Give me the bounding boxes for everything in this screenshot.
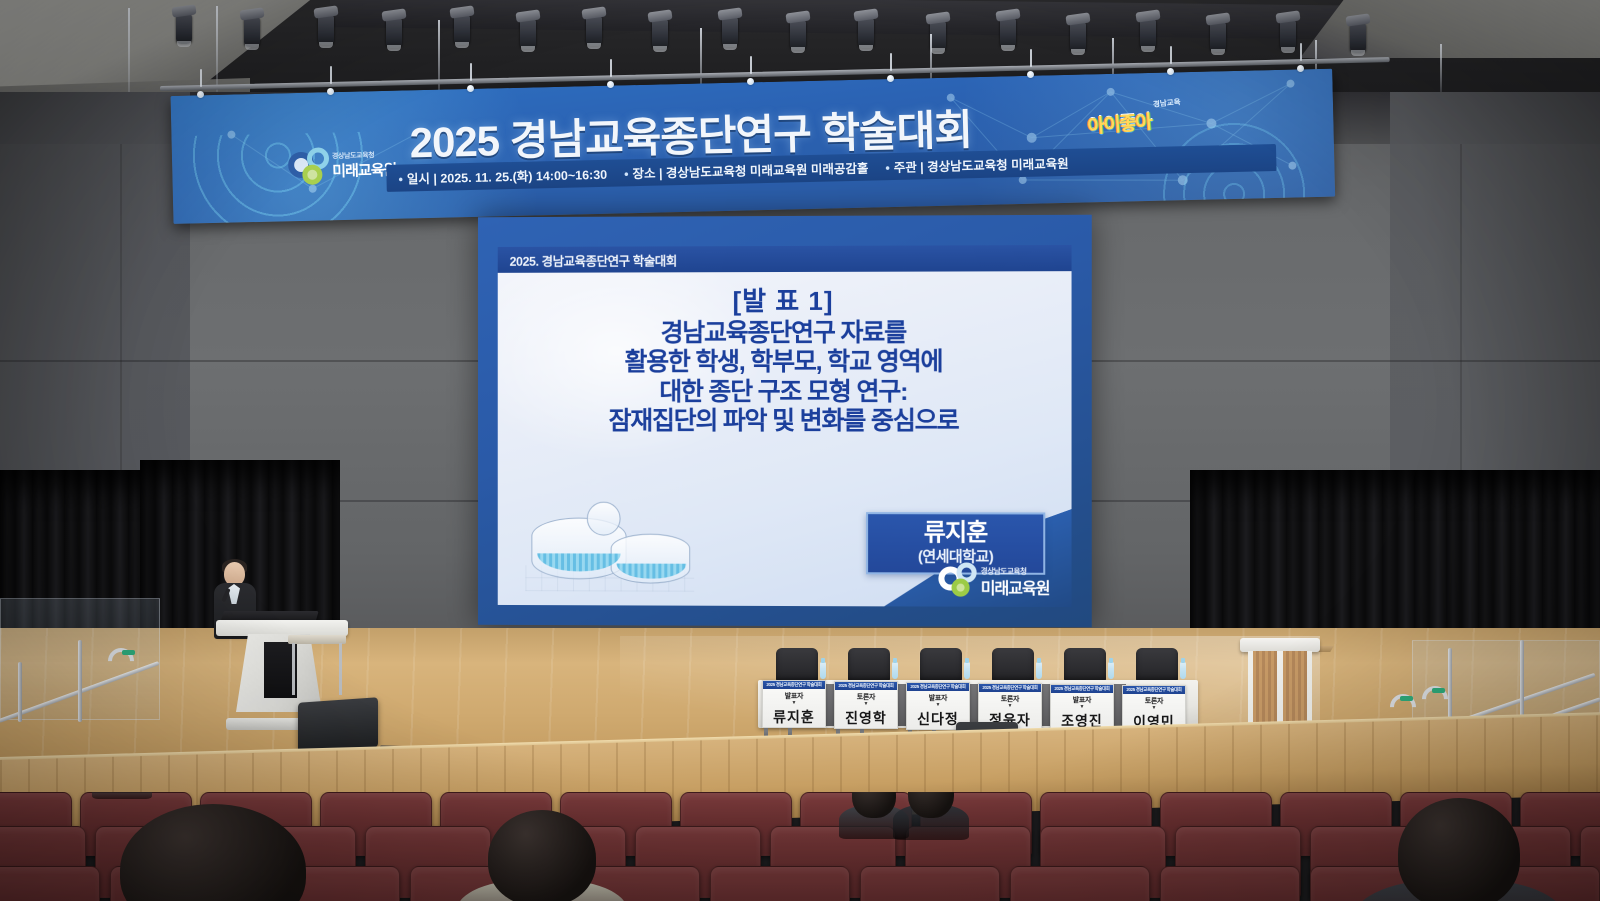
banner-hook xyxy=(890,53,892,71)
water-bottle xyxy=(892,662,898,679)
banner-hook xyxy=(610,59,612,77)
slide-logo-org-main: 미래교육원 xyxy=(981,575,1050,599)
banner-hook xyxy=(330,66,332,84)
stage-light xyxy=(586,16,602,46)
banner-info-venue: 장소 | 경상남도교육청 미래교육원 미래공감홀 xyxy=(624,158,869,183)
audience-seat[interactable] xyxy=(1010,866,1150,901)
water-bottle xyxy=(964,662,970,679)
placard-caret-icon: ▼ xyxy=(936,703,941,708)
slide-presentation-label: [발 표 1] xyxy=(498,285,1072,317)
banner-info-host: 주관 | 경상남도교육청 미래교육원 xyxy=(885,153,1069,176)
banner-hook xyxy=(1170,46,1172,64)
placard-caret-icon: ▼ xyxy=(1008,704,1013,709)
stage-light xyxy=(1350,23,1366,53)
stage-light xyxy=(318,15,334,45)
banner-eyelet xyxy=(197,91,204,98)
panel-chair xyxy=(776,648,818,682)
stage-light xyxy=(722,17,738,47)
placard-caret-icon: ▼ xyxy=(1152,706,1157,711)
audience-person-foreground-right xyxy=(1398,798,1520,901)
slide-content: [발 표 1] 경남교육종단연구 자료를 활용한 학생, 학부모, 학교 영역에… xyxy=(498,271,1072,607)
stage-light xyxy=(858,18,874,48)
mascot-word: 아이좋아 xyxy=(1086,107,1152,139)
placard-header: 2025 경남교육종단연구 학술대회 xyxy=(835,682,897,690)
mascot-logo: 경남교육 아이좋아 xyxy=(1087,98,1184,138)
banner-eyelet xyxy=(467,85,474,92)
handrail-grip-left xyxy=(122,650,135,655)
stage-light xyxy=(930,21,946,51)
banner-info-date: 일시 | 2025. 11. 25.(화) 14:00~16:30 xyxy=(398,164,607,188)
panel-chair xyxy=(920,648,962,682)
event-banner: 경상남도교육청 미래교육원 2025 경남교육종단연구 학술대회 일시 | 20… xyxy=(170,69,1335,224)
banner-eyelet xyxy=(887,75,894,82)
projection-screen: 2025. 경남교육종단연구 학술대회 [발 표 1] 경남교육종단연구 자료를… xyxy=(478,215,1092,628)
stage-light xyxy=(176,14,192,44)
stage-light xyxy=(386,18,402,48)
railing-post xyxy=(78,640,82,722)
suspension-wire xyxy=(1440,44,1442,92)
handrail-grip-right-2 xyxy=(1400,696,1413,701)
conference-hall-photo: 경상남도교육청 미래교육원 2025 경남교육종단연구 학술대회 일시 | 20… xyxy=(0,0,1600,901)
name-placard: 2025 경남교육종단연구 학술대회토론자▼진영학 xyxy=(834,681,898,729)
stage-light xyxy=(1000,18,1016,48)
side-table-leg xyxy=(292,643,295,695)
banner-hook xyxy=(470,63,472,81)
placard-header: 2025 경남교육종단연구 학술대회 xyxy=(1051,685,1113,693)
water-bottle xyxy=(1036,662,1042,679)
banner-hook xyxy=(1300,43,1302,61)
audience-person-distant-left-shoulders xyxy=(92,792,152,799)
placard-caret-icon: ▼ xyxy=(792,701,797,706)
banner-eyelet xyxy=(327,88,334,95)
stage-light xyxy=(790,20,806,50)
slide-presenter-name: 류지훈 xyxy=(924,520,988,545)
water-bottle xyxy=(1180,662,1186,679)
wall-shadow-left xyxy=(0,92,190,512)
wall-vertical-seam xyxy=(1460,144,1462,504)
slide-title-block: [발 표 1] 경남교육종단연구 자료를 활용한 학생, 학부모, 학교 영역에… xyxy=(498,285,1072,437)
stage-light xyxy=(520,19,536,49)
placard-role: 토론자 xyxy=(1145,696,1163,706)
slide-title-line-4: 잠재집단의 파악 및 변화를 중심으로 xyxy=(498,407,1072,437)
audience-seat[interactable] xyxy=(860,866,1000,901)
audience-seating xyxy=(0,792,1600,901)
slide-title-line-1: 경남교육종단연구 자료를 xyxy=(498,318,1072,349)
stage-light xyxy=(652,19,668,49)
placard-caret-icon: ▼ xyxy=(1080,705,1085,710)
placard-name: 류지훈 xyxy=(773,707,815,727)
railing-post xyxy=(18,662,22,722)
audience-seat[interactable] xyxy=(710,866,850,901)
banner-eyelet xyxy=(747,78,754,85)
suspension-wire xyxy=(438,20,440,98)
podium-top-surface xyxy=(216,620,348,636)
stage-floor-monitor-left xyxy=(298,697,378,753)
side-table xyxy=(288,635,346,697)
banner-hook xyxy=(200,69,202,87)
panel-chair xyxy=(848,648,890,682)
placard-header: 2025 경남교육종단연구 학술대회 xyxy=(979,684,1041,692)
panel-chair xyxy=(1064,648,1106,682)
audience-seat[interactable] xyxy=(0,866,100,901)
stage-light xyxy=(244,17,260,47)
placard-name: 신다정 xyxy=(917,709,959,729)
ceiling-panel-right xyxy=(1300,0,1600,58)
audience-seat[interactable] xyxy=(1160,866,1300,901)
stage-light xyxy=(1210,22,1226,52)
stage-light xyxy=(454,15,470,45)
side-table-leg xyxy=(339,643,342,695)
building-3d-icon xyxy=(525,500,694,592)
stage-light xyxy=(1140,19,1156,49)
handrail-grip-right xyxy=(1432,688,1445,693)
logo-ring-green xyxy=(302,164,322,184)
banner-hook xyxy=(750,56,752,74)
banner-hook xyxy=(1030,49,1032,67)
slide-logo-ring-green xyxy=(951,579,969,597)
lectern-top-surface xyxy=(1240,638,1320,652)
side-table-top xyxy=(288,635,346,644)
stage-light xyxy=(1070,22,1086,52)
panel-chair xyxy=(992,648,1034,682)
stage-light xyxy=(1280,20,1296,50)
placard-name: 진영학 xyxy=(845,708,887,728)
placard-header: 2025 경남교육종단연구 학술대회 xyxy=(763,681,825,689)
suspension-wire xyxy=(216,6,218,92)
placard-caret-icon: ▼ xyxy=(864,702,869,707)
banner-org-logo: 경상남도교육청 미래교육원 xyxy=(288,144,395,190)
placard-header: 2025 경남교육종단연구 학술대회 xyxy=(1123,686,1185,694)
wall-vertical-seam xyxy=(120,144,122,504)
audience-person-center-left xyxy=(488,810,596,901)
slide-header-text: 2025. 경남교육종단연구 학술대회 xyxy=(498,250,677,270)
slide-title-line-3: 대한 종단 구조 모형 연구: xyxy=(498,377,1072,407)
mascot-sub-label: 경남교육 xyxy=(1153,96,1182,110)
name-placard: 2025 경남교육종단연구 학술대회발표자▼류지훈 xyxy=(762,680,826,728)
suspension-wire xyxy=(128,8,130,100)
building-tower xyxy=(587,502,621,536)
panel-chair xyxy=(1136,648,1178,682)
water-bottle xyxy=(1108,662,1114,679)
placard-header: 2025 경남교육종단연구 학술대회 xyxy=(907,683,969,691)
slide-header-bar: 2025. 경남교육종단연구 학술대회 xyxy=(498,245,1072,273)
slide-title-line-2: 활용한 학생, 학부모, 학교 영역에 xyxy=(498,348,1072,378)
name-placard: 2025 경남교육종단연구 학술대회발표자▼조영진 xyxy=(1050,684,1114,732)
water-bottle xyxy=(820,662,826,679)
slide-org-logo: 경상남도교육청 미래교육원 xyxy=(938,560,1061,601)
wall-shadow-right xyxy=(1390,92,1600,522)
